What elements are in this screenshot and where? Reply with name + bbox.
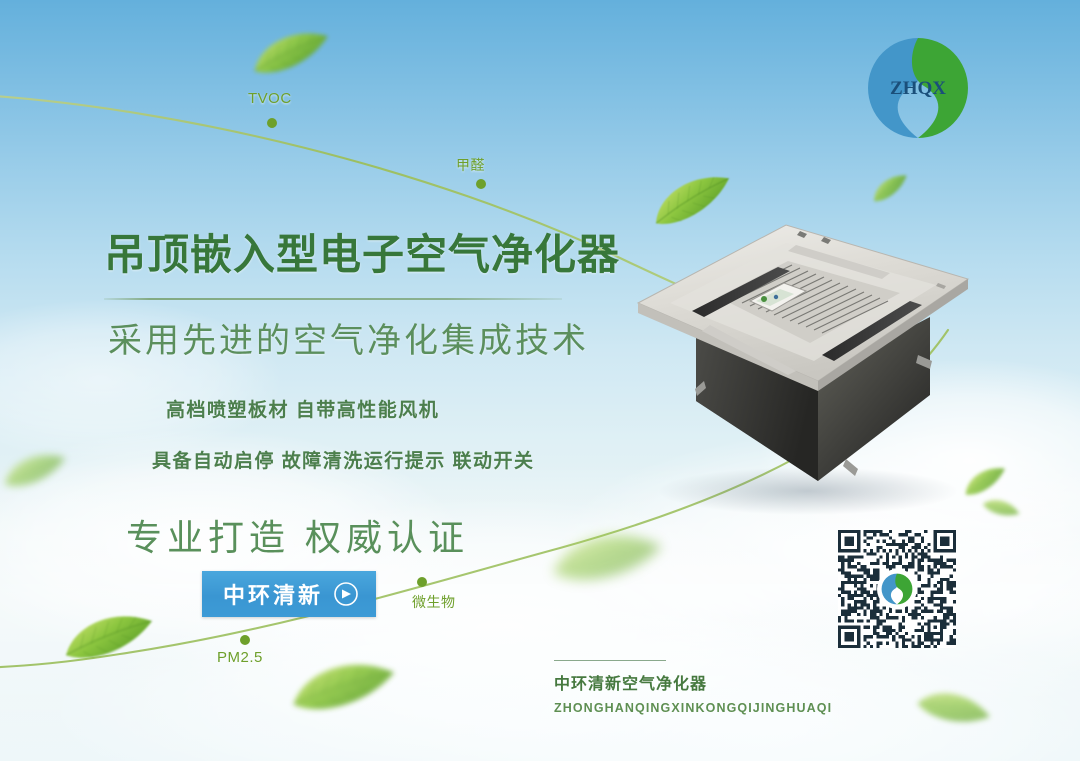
ceiling-cassette-air-purifier (600, 205, 1000, 515)
footer-brand: 中环清新空气净化器 ZHONGHANQINGXINKONGQIJINGHUAQI (554, 660, 854, 715)
footer-divider (554, 660, 666, 661)
headline-block: 吊顶嵌入型电子空气净化器 采用先进的空气净化集成技术 高档喷塑板材 自带高性能风… (104, 232, 624, 561)
curve-node-dot (267, 118, 277, 128)
logo-text: ZHQX (890, 78, 946, 99)
brand-cta-label: 中环清新 (223, 578, 323, 610)
leaf-icon (866, 165, 915, 208)
curve-node-label-3: PM2.5 (217, 649, 263, 666)
leaf-icon (913, 681, 997, 735)
zhqx-logo: ZHQX (862, 32, 974, 144)
leaf-icon (55, 598, 162, 672)
curve-node-dot (476, 179, 486, 189)
footer-brand-pinyin: ZHONGHANQINGXINKONGQIJINGHUAQI (554, 701, 854, 715)
circle-arrow-right-icon (333, 581, 359, 607)
brand-cta-button[interactable]: 中环清新 (202, 571, 376, 617)
curve-node-label-1: 甲醛 (456, 155, 485, 175)
curve-node-dot (240, 635, 250, 645)
leaf-icon (284, 647, 405, 723)
feature-line-1: 高档喷塑板材 自带高性能风机 (166, 395, 624, 422)
curve-node-dot (417, 577, 427, 587)
title-divider (104, 298, 562, 300)
wechat-qr-code[interactable] (838, 530, 956, 648)
page-title: 吊顶嵌入型电子空气净化器 (104, 232, 624, 278)
curve-node-label-2: 微生物 (412, 592, 456, 612)
leaf-icon (243, 15, 338, 86)
poster-canvas: TVOC甲醛微生物PM2.5 ZHQX (0, 0, 1080, 761)
sub-title: 采用先进的空气净化集成技术 (108, 322, 624, 361)
curve-node-label-0: TVOC (248, 90, 292, 107)
footer-brand-cn: 中环清新空气净化器 (554, 670, 854, 694)
tagline: 专业打造 权威认证 (126, 509, 624, 561)
feature-line-2: 具备自动启停 故障清洗运行提示 联动开关 (152, 446, 624, 473)
qr-center-logo (879, 571, 915, 607)
leaf-icon (0, 441, 74, 497)
